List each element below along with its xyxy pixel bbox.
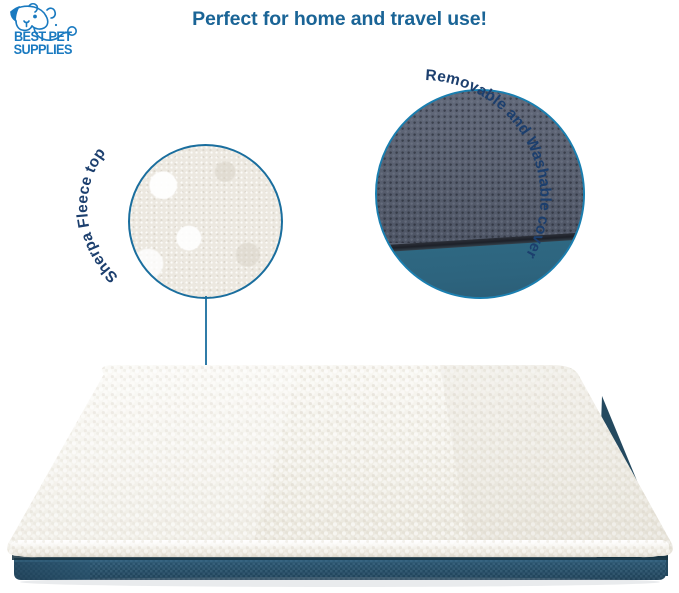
mesh-fabric-texture	[377, 91, 583, 243]
cover-swatch-circle	[375, 89, 585, 299]
fleece-label-textpath: Sherpa Fleece top	[74, 145, 121, 286]
headline-text: Perfect for home and travel use!	[0, 8, 679, 31]
fleece-label-text: Sherpa Fleece top	[74, 145, 121, 286]
brand-wordmark: BEST PETSUPPLIES	[7, 31, 78, 56]
callout-sherpa-fleece: Sherpa Fleece top	[128, 144, 283, 299]
callout-washable-cover: Removable and Washable cover	[375, 89, 585, 299]
dog-bed-illustration	[0, 360, 679, 593]
fleece-swatch-circle	[128, 144, 283, 299]
product-dog-bed	[0, 360, 679, 593]
product-feature-image: BEST PETSUPPLIES Perfect for home and tr…	[0, 0, 679, 593]
wordmark-line-2: SUPPLIES	[14, 42, 72, 57]
